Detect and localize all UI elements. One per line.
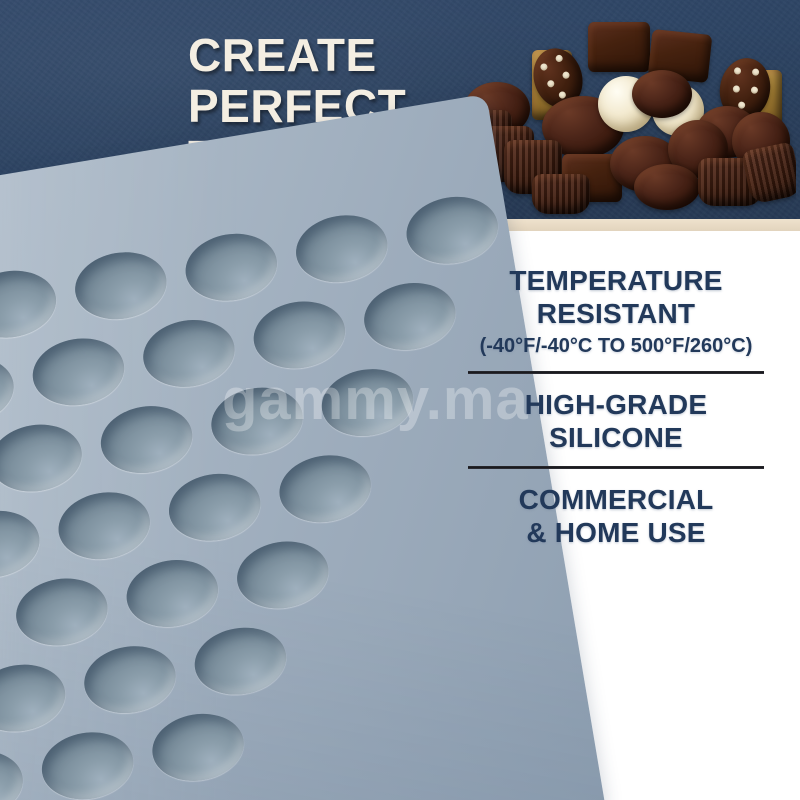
mould-cavity [164, 467, 266, 547]
feature-title-line-2: SILICONE [549, 422, 683, 453]
product-marketing-image: CREATE PERFECT TREATS [0, 0, 800, 800]
feature-list: TEMPERATURE RESISTANT (-40°F/-40°C TO 50… [468, 262, 764, 549]
feature-temperature-resistant: TEMPERATURE RESISTANT (-40°F/-40°C TO 50… [468, 264, 764, 359]
mould-cavity [0, 418, 87, 498]
mould-cavity [274, 449, 376, 529]
mould-cavity [359, 276, 461, 356]
mould-cavity [122, 553, 224, 633]
feature-title-line-2: & HOME USE [526, 517, 705, 548]
feature-title-line-2: RESISTANT [537, 298, 695, 329]
mould-cavity [138, 313, 240, 393]
mould-cavity [11, 572, 113, 652]
mould-cavity [53, 486, 155, 566]
mould-cavity [70, 246, 172, 326]
mould-cavity [232, 535, 334, 615]
mould-cavity [105, 793, 207, 800]
mould-cavity [401, 190, 503, 270]
chocolate-piece [588, 22, 650, 72]
mould-cavity [0, 658, 70, 738]
feature-commercial-home-use: COMMERCIAL & HOME USE [468, 483, 764, 549]
mould-cavity [28, 332, 130, 412]
mould-cavity [317, 362, 419, 442]
feature-divider [468, 371, 764, 374]
mould-cavity [0, 350, 19, 430]
mould-cavity [190, 621, 292, 701]
feature-title: HIGH-GRADE SILICONE [468, 388, 764, 454]
mould-cavity [96, 399, 198, 479]
mould-cavity [249, 295, 351, 375]
mould-cavity [180, 227, 282, 307]
feature-title: TEMPERATURE RESISTANT [468, 264, 764, 330]
feature-subtitle: (-40°F/-40°C TO 500°F/260°C) [468, 333, 764, 359]
mould-cavity [0, 590, 2, 670]
mould-cavity [0, 744, 28, 800]
feature-high-grade-silicone: HIGH-GRADE SILICONE [468, 388, 764, 454]
mould-cavity [0, 504, 45, 584]
feature-title: COMMERCIAL & HOME USE [468, 483, 764, 549]
mould-cavity [206, 381, 308, 461]
feature-title-line-1: COMMERCIAL [519, 484, 714, 515]
mould-cavity [291, 209, 393, 289]
feature-divider [468, 466, 764, 469]
chocolate-piece [634, 164, 700, 210]
chocolate-piece [632, 70, 692, 118]
feature-title-line-1: HIGH-GRADE [525, 389, 707, 420]
mould-cavity [0, 264, 61, 344]
headline-line-1: CREATE [188, 30, 478, 81]
feature-title-line-1: TEMPERATURE [509, 265, 722, 296]
chocolate-piece [532, 174, 590, 214]
mould-cavity [147, 707, 249, 787]
mould-cavity [79, 639, 181, 719]
mould-cavity [37, 726, 139, 800]
